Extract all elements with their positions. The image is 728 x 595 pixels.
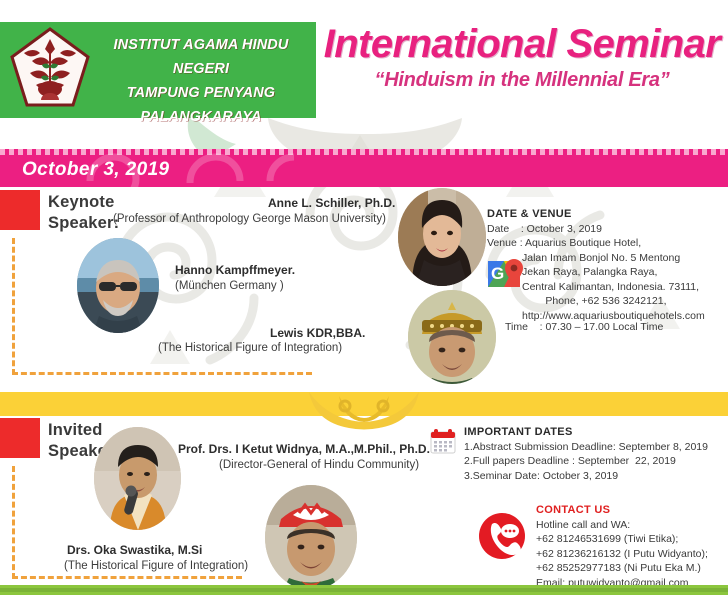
banner-dot-strip — [0, 149, 728, 155]
invited-speaker-2-name: Drs. Oka Swastika, M.Si — [67, 543, 202, 557]
contact-details: Hotline call and WA: +62 81246531699 (Ti… — [536, 518, 708, 590]
institute-name-line1: INSTITUT AGAMA HINDU NEGERI — [92, 34, 310, 82]
important-dates-list: 1.Abstract Submission Deadline: Septembe… — [464, 440, 708, 483]
bottom-band-inner-line — [0, 588, 728, 592]
keynote-speaker-3-name: Lewis KDR,BBA. — [270, 326, 365, 340]
poster-header: INSTITUT AGAMA HINDU NEGERI TAMPUNG PENY… — [0, 0, 728, 140]
keynote-speaker-3-role: (The Historical Figure of Integration) — [158, 342, 342, 354]
date-venue-time: Time : 07.30 – 17.00 Local Time — [505, 320, 663, 334]
seminar-poster: INSTITUT AGAMA HINDU NEGERI TAMPUNG PENY… — [0, 0, 728, 595]
page-title: International Seminar — [322, 24, 722, 64]
institute-name: INSTITUT AGAMA HINDU NEGERI TAMPUNG PENY… — [92, 34, 310, 130]
avatar-lewis-kdr — [408, 290, 496, 384]
date-banner: October 3, 2019 — [0, 149, 728, 187]
keynote-speaker-1-name: Anne L. Schiller, Ph.D. — [268, 196, 395, 210]
invited-speaker-2-role: (The Historical Figure of Integration) — [64, 560, 248, 572]
keynote-speaker-2-role: (München Germany ) — [175, 280, 284, 292]
page-subtitle: “Hinduism in the Millennial Era” — [322, 69, 722, 92]
keynote-red-tab — [0, 190, 40, 230]
institute-emblem-icon — [10, 27, 90, 113]
invited-speaker-1-role: (Director-General of Hindu Community) — [219, 459, 419, 471]
calendar-icon — [430, 428, 456, 454]
contact-heading: CONTACT US — [536, 504, 610, 516]
institute-name-line2: TAMPUNG PENYANG PALANGKARAYA — [92, 82, 310, 130]
phone-call-icon — [478, 512, 526, 560]
avatar-oka-swastika — [265, 485, 357, 590]
invited-red-tab — [0, 418, 40, 458]
keynote-label-line2: Speaker: — [48, 213, 119, 234]
keynote-dashed-frame — [12, 238, 312, 375]
keynote-speaker-1-role: (Professor of Anthropology George Mason … — [113, 213, 386, 225]
bottom-green-band — [0, 585, 728, 595]
avatar-i-ketut-widnya — [94, 427, 181, 530]
invited-section: Invited Speaker: Prof. Drs. I Ketut Widn… — [0, 418, 470, 578]
keynote-label-line1: Keynote — [48, 192, 119, 213]
date-venue-heading: DATE & VENUE — [487, 208, 572, 220]
contact-block: CONTACT US Hotline call and WA: +62 8124… — [478, 500, 728, 580]
important-dates-heading: IMPORTANT DATES — [464, 426, 573, 438]
date-venue-block: DATE & VENUE Date : October 3, 2019 Venu… — [487, 208, 728, 338]
avatar-hanno-kampffmeyer — [77, 238, 159, 333]
keynote-speaker-2-name: Hanno Kampffmeyer. — [175, 263, 295, 277]
title-block: International Seminar “Hinduism in the M… — [322, 24, 722, 92]
invited-speaker-1-name: Prof. Drs. I Ketut Widnya, M.A.,M.Phil.,… — [178, 442, 430, 456]
keynote-section-label: Keynote Speaker: — [48, 192, 119, 233]
avatar-anne-schiller — [398, 188, 486, 286]
svg-text:G: G — [491, 264, 504, 283]
google-maps-pin-icon: G — [486, 255, 526, 289]
important-dates-block: IMPORTANT DATES 1.Abstract Submission De… — [430, 426, 728, 481]
seminar-date-text: October 3, 2019 — [22, 159, 170, 181]
